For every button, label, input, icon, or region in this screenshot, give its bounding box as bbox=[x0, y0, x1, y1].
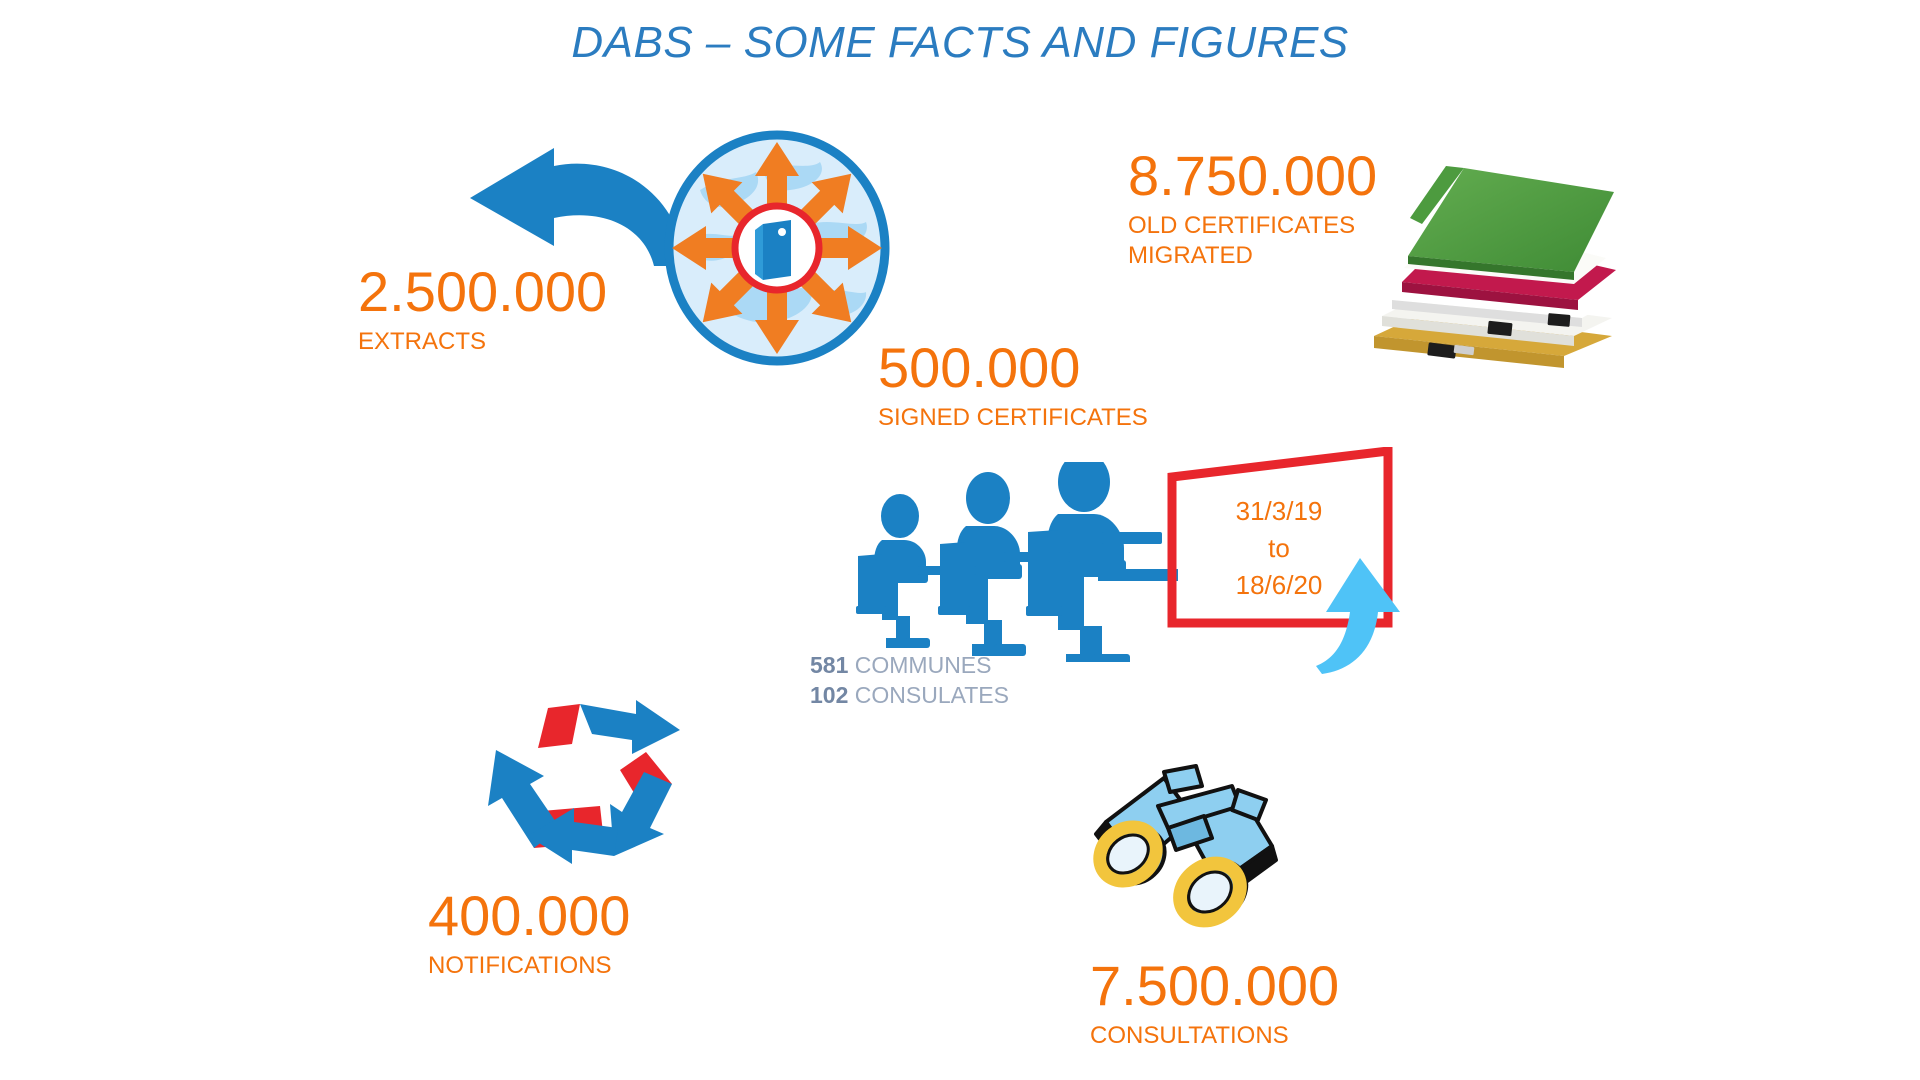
communes-number: 581 bbox=[810, 652, 848, 678]
stat-consultations: 7.500.000 CONSULTATIONS bbox=[1090, 958, 1339, 1050]
stat-signed-label: SIGNED CERTIFICATES bbox=[878, 404, 1148, 432]
stat-notifications: 400.000 NOTIFICATIONS bbox=[428, 888, 630, 980]
stat-extracts-number: 2.500.000 bbox=[358, 264, 607, 320]
page-title: DABS – SOME FACTS AND FIGURES bbox=[0, 18, 1920, 68]
stat-extracts-label: EXTRACTS bbox=[358, 328, 607, 356]
stat-migrated-label-line1: OLD CERTIFICATES bbox=[1128, 212, 1377, 240]
stat-notifications-number: 400.000 bbox=[428, 888, 630, 944]
stat-signed-certificates: 500.000 SIGNED CERTIFICATES bbox=[878, 340, 1148, 432]
stat-signed-number: 500.000 bbox=[878, 340, 1148, 396]
stat-consultations-number: 7.500.000 bbox=[1090, 958, 1339, 1014]
binoculars-icon bbox=[1072, 762, 1312, 942]
recycle-icon bbox=[468, 700, 698, 880]
consulates-line: 102 CONSULATES bbox=[810, 680, 1009, 710]
stat-notifications-label: NOTIFICATIONS bbox=[428, 952, 630, 980]
globe-network-icon bbox=[660, 128, 895, 368]
folder-stack-icon bbox=[1368, 160, 1618, 380]
date-start: 31/3/19 bbox=[1164, 493, 1394, 530]
stat-old-certificates-migrated: 8.750.000 OLD CERTIFICATES MIGRATED bbox=[1128, 148, 1377, 271]
blue-curved-arrow-left-icon bbox=[462, 148, 692, 268]
stat-extracts: 2.500.000 EXTRACTS bbox=[358, 264, 607, 356]
stat-migrated-number: 8.750.000 bbox=[1128, 148, 1377, 204]
consulates-number: 102 bbox=[810, 682, 848, 708]
slide-canvas: DABS – SOME FACTS AND FIGURES bbox=[0, 0, 1920, 1080]
communes-label: COMMUNES bbox=[855, 652, 992, 678]
stat-consultations-label: CONSULTATIONS bbox=[1090, 1022, 1339, 1050]
consulates-label: CONSULATES bbox=[855, 682, 1009, 708]
light-blue-curved-arrow-up-icon bbox=[1306, 546, 1416, 676]
people-queue-icon bbox=[852, 462, 1162, 662]
communes-line: 581 COMMUNES bbox=[810, 650, 1009, 680]
counts-block: 581 COMMUNES 102 CONSULATES bbox=[810, 650, 1009, 711]
stat-migrated-label-line2: MIGRATED bbox=[1128, 242, 1377, 270]
